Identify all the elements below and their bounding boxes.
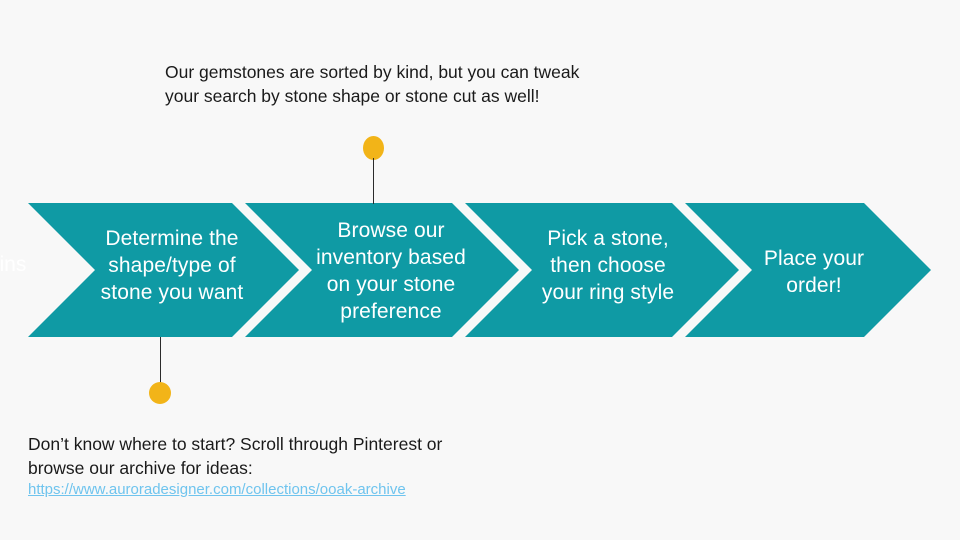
top-callout-dot-icon xyxy=(363,136,384,160)
bottom-callout-text: Don’t know where to start? Scroll throug… xyxy=(28,432,448,480)
left-duration-label: mins xyxy=(0,251,72,278)
slide-canvas: mins Determine the shape/type of stone y… xyxy=(0,0,960,540)
top-callout-text: Our gemstones are sorted by kind, but yo… xyxy=(165,60,590,108)
chevron-segment-1-label: Determine the shape/type of stone you wa… xyxy=(78,225,266,306)
top-callout-connector-line xyxy=(373,158,374,204)
chevron-segment-3-label: Pick a stone, then choose your ring styl… xyxy=(520,225,696,306)
bottom-callout-dot-icon xyxy=(149,382,171,404)
bottom-callout-connector-line xyxy=(160,337,161,385)
chevron-segment-4-label: Place your order! xyxy=(740,245,888,299)
chevron-segment-2-label: Browse our inventory based on your stone… xyxy=(300,217,482,325)
ooak-archive-link[interactable]: https://www.auroradesigner.com/collectio… xyxy=(28,480,406,500)
